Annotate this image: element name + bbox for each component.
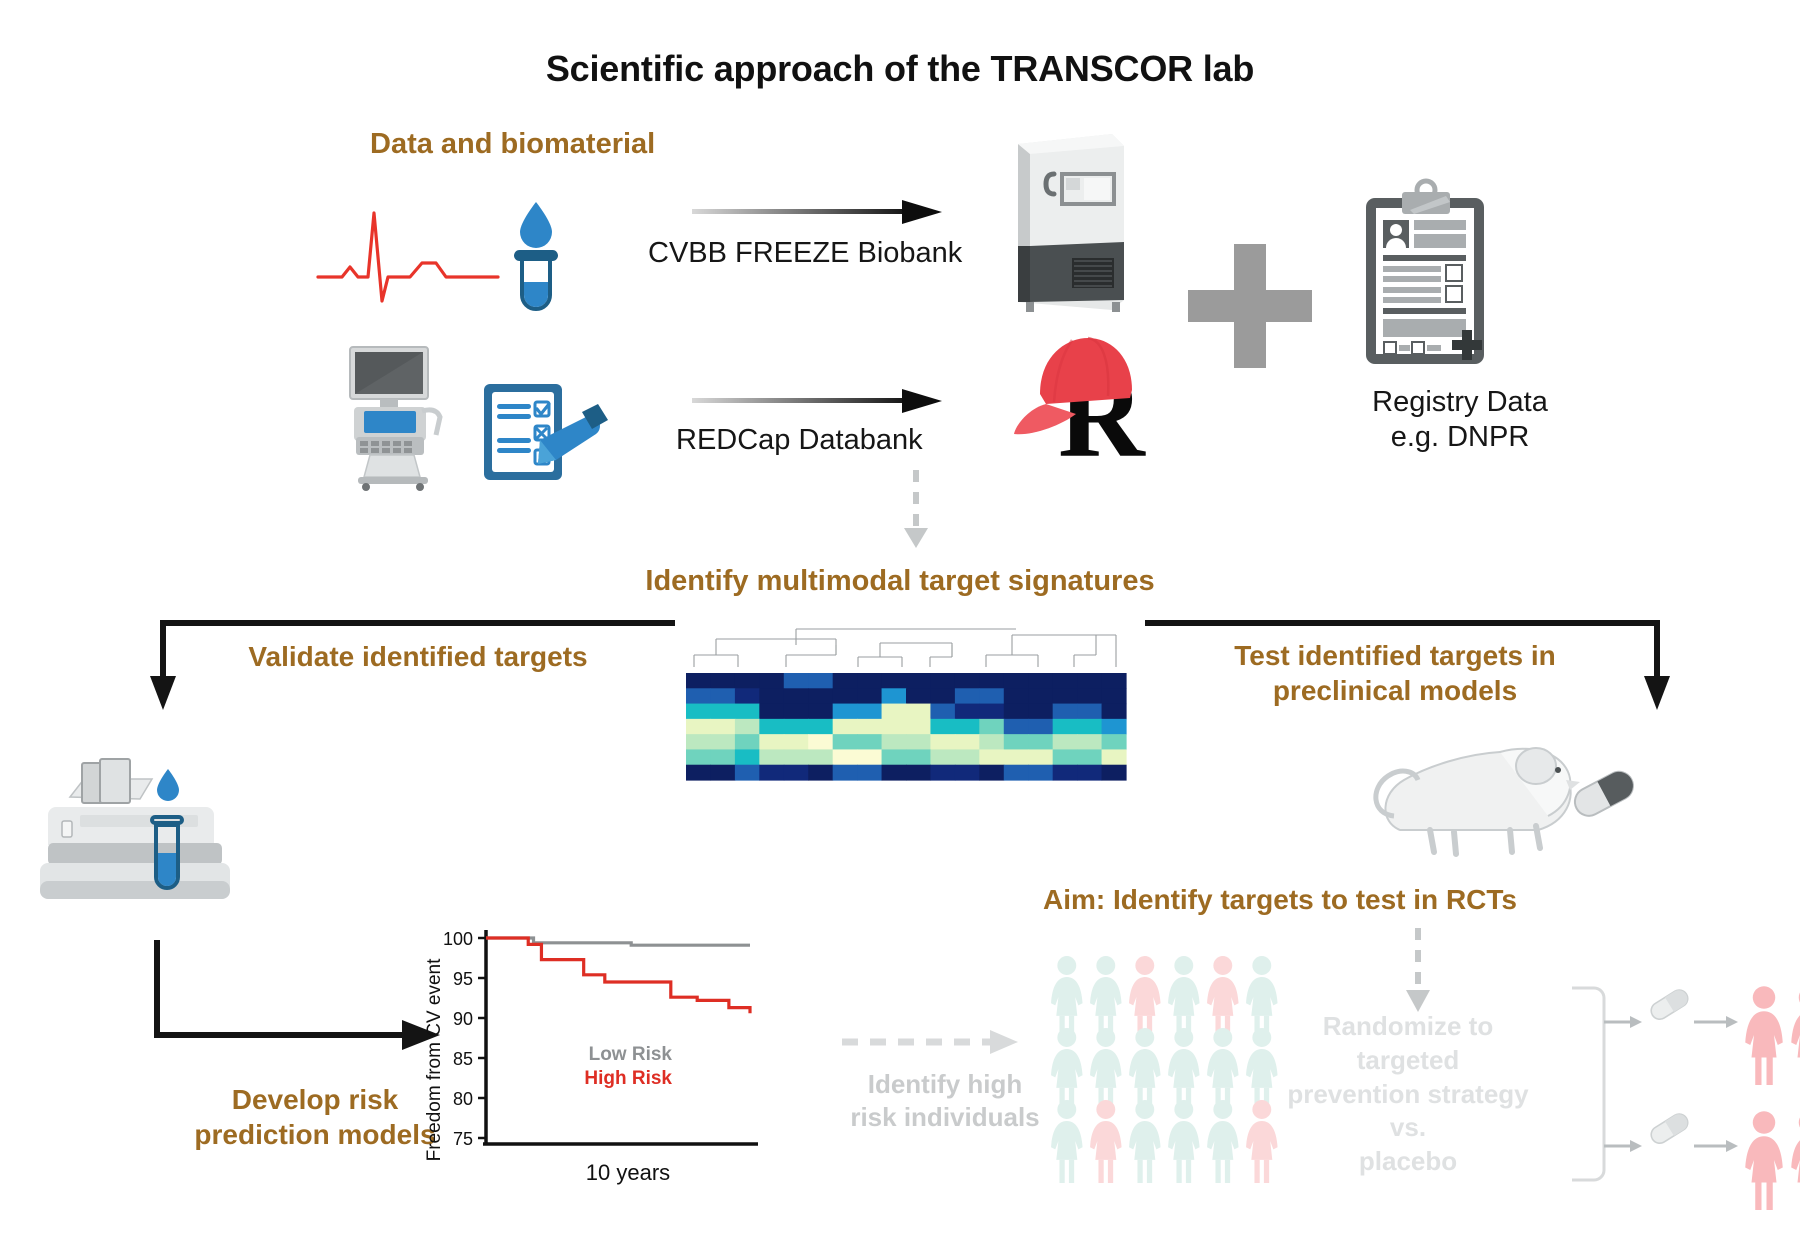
outcome-people-bottom: [1744, 1110, 1800, 1210]
bracket-arrow-left-validate: [150, 618, 680, 718]
registry-data-line2: e.g. DNPR: [1330, 420, 1590, 455]
arrow-to-biobank: [692, 196, 952, 230]
label-identify-signatures: Identify multimodal target signatures: [640, 565, 1160, 598]
registry-clipboard-icon: [1358, 180, 1493, 370]
registry-data-label: Registry Data e.g. DNPR: [1330, 385, 1590, 456]
kaplan-meier-plot: 7580859095100Freedom from CV event10 yea…: [420, 910, 760, 1220]
clustered-heatmap-icon: [686, 615, 1126, 780]
svg-text:10 years: 10 years: [586, 1160, 670, 1185]
plus-sign-icon: [1180, 240, 1320, 380]
registry-data-line1: Registry Data: [1330, 385, 1590, 420]
questionnaire-clipboard-icon: [478, 382, 623, 487]
randomize-line2: prevention strategy vs.: [1268, 1078, 1548, 1146]
arrow-to-risk-models: [152, 940, 442, 1060]
svg-text:Low Risk: Low Risk: [589, 1044, 673, 1065]
ecg-waveform-icon: [318, 205, 498, 305]
ultrasound-machine-icon: [330, 345, 460, 490]
svg-text:Freedom from CV event: Freedom from CV event: [424, 958, 445, 1161]
randomize-line1: Randomize to targeted: [1268, 1010, 1548, 1078]
r-language-cap-logo-icon: R: [1010, 328, 1150, 460]
drug-capsule-icon: [1570, 767, 1638, 821]
label-aim-rcts: Aim: Identify targets to test in RCTs: [1010, 884, 1550, 916]
page-title: Scientific approach of the TRANSCOR lab: [0, 48, 1800, 90]
arrow-to-databank: [692, 385, 952, 419]
dashed-arrow-to-crowd: [842, 1022, 1032, 1062]
svg-text:80: 80: [453, 1089, 473, 1109]
arrow-label-cvbb-biobank: CVBB FREEZE Biobank: [648, 237, 962, 270]
section-label-data-biomaterial: Data and biomaterial: [370, 128, 655, 161]
ultra-low-freezer-icon: [1000, 130, 1140, 320]
population-crowd-icon: [1050, 955, 1290, 1185]
svg-text:90: 90: [453, 1009, 473, 1029]
svg-text:95: 95: [453, 969, 473, 989]
outcome-people-top: [1744, 985, 1800, 1085]
identify-high-line2: risk individuals: [845, 1101, 1045, 1134]
svg-text:85: 85: [453, 1049, 473, 1069]
lab-mouse-icon: [1370, 718, 1620, 863]
label-identify-high-risk: Identify high risk individuals: [845, 1068, 1045, 1133]
svg-text:High Risk: High Risk: [584, 1068, 672, 1089]
randomize-line3: placebo: [1268, 1145, 1548, 1179]
bracket-arrow-right-test: [1140, 618, 1670, 718]
label-randomize-prevention: Randomize to targeted prevention strateg…: [1268, 1010, 1548, 1179]
plate-reader-instrument-icon: [40, 755, 265, 915]
dashed-arrow-to-identify: [896, 470, 936, 552]
dashed-arrow-to-randomize: [1398, 928, 1438, 1018]
test-tube-icon: [496, 200, 576, 310]
svg-text:75: 75: [453, 1129, 473, 1149]
arrow-label-redcap-databank: REDCap Databank: [676, 424, 923, 457]
svg-text:100: 100: [443, 929, 473, 949]
identify-high-line1: Identify high: [845, 1068, 1045, 1101]
